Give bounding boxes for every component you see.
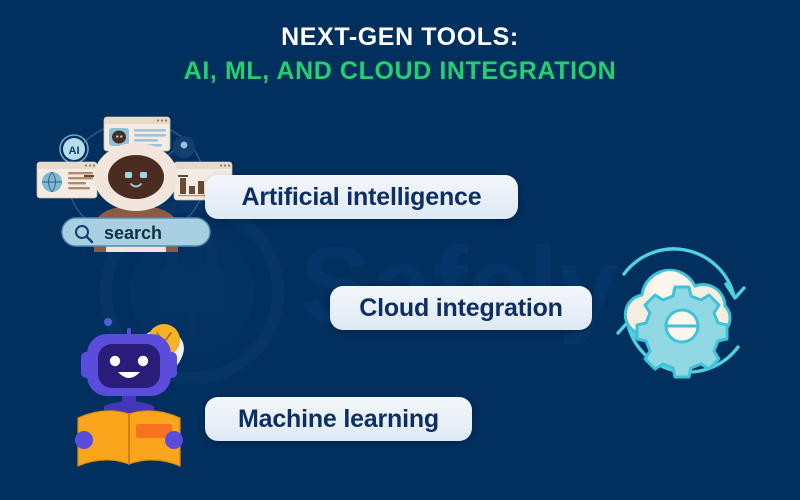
browser-card-globe [37, 162, 97, 198]
robot-head [84, 143, 188, 211]
page-title: NEXT-GEN TOOLS: AI, ML, AND CLOUD INTEGR… [0, 22, 800, 89]
pill-label: Artificial intelligence [242, 183, 482, 212]
pill-label: Cloud integration [359, 294, 563, 323]
poster-canvas: Safely NEXT-GEN TOOLS: AI, ML, AND CLOUD… [0, 0, 800, 500]
label-pill-machine-learning[interactable]: Machine learning [205, 397, 472, 441]
label-pill-cloud-integration[interactable]: Cloud integration [330, 286, 592, 330]
reading-robot-illustration [60, 300, 205, 465]
robot-head [81, 330, 177, 396]
gear-icon [637, 287, 727, 377]
label-pill-artificial-intelligence[interactable]: Artificial intelligence [205, 175, 518, 219]
search-label: search [104, 223, 162, 243]
svg-text:AI: AI [69, 145, 80, 157]
accent-dot-icon [104, 318, 112, 326]
title-line-2: AI, ML, AND CLOUD INTEGRATION [0, 53, 800, 89]
cloud-gear-sync-illustration [596, 228, 766, 393]
title-line-1: NEXT-GEN TOOLS: [0, 22, 800, 53]
ai-badge-icon: AI [60, 135, 88, 163]
open-book-icon [78, 411, 180, 466]
arrow-head-right-icon [726, 284, 744, 298]
search-bar: search [62, 218, 210, 246]
pill-label: Machine learning [238, 405, 439, 434]
node-dot-icon [173, 136, 195, 158]
